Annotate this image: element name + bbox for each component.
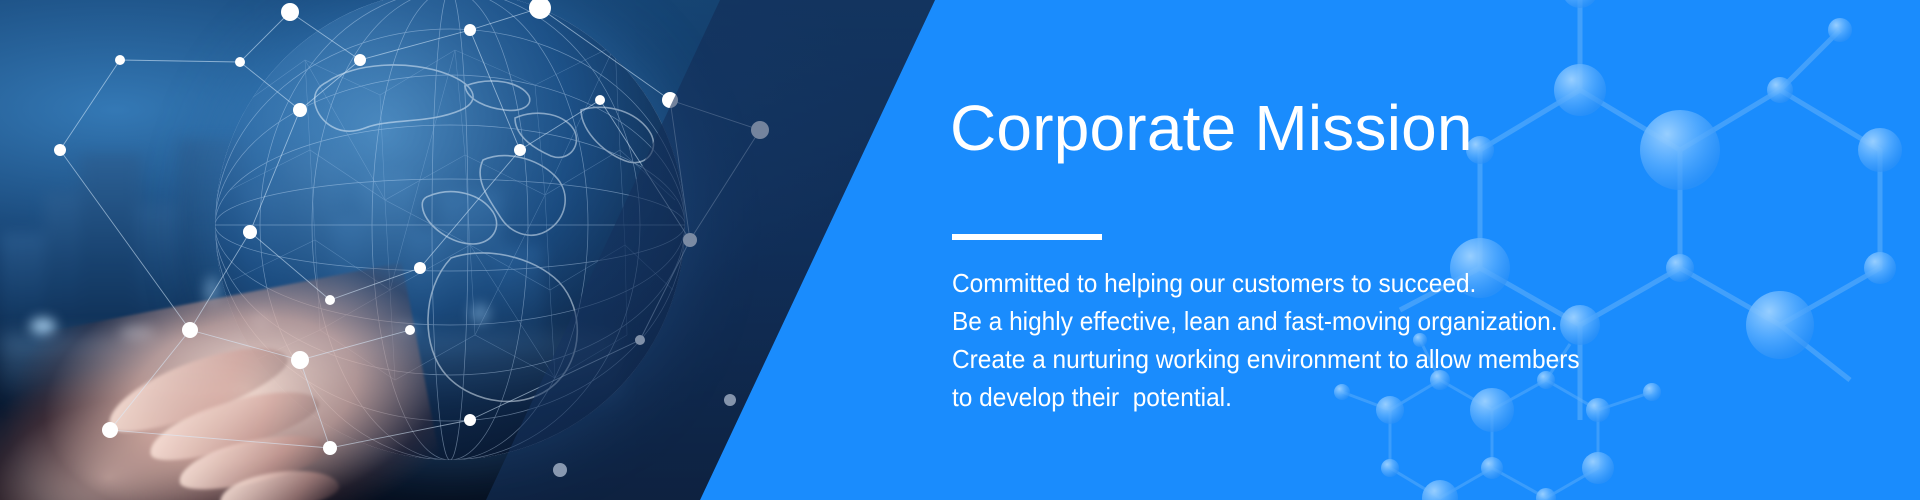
- page-title: Corporate Mission: [950, 95, 1473, 162]
- mission-content: Corporate Mission Committed to helping o…: [950, 0, 1850, 500]
- title-divider: [952, 234, 1102, 240]
- mission-statement-line: Be a highly effective, lean and fast-mov…: [952, 302, 1723, 340]
- mission-statement-line: to develop their potential.: [952, 378, 1723, 416]
- mission-statement-line: Create a nurturing working environment t…: [952, 340, 1723, 378]
- corporate-mission-banner: Corporate Mission Committed to helping o…: [0, 0, 1920, 500]
- mission-statement-list: Committed to helping our customers to su…: [952, 264, 1772, 416]
- mission-statement-line: Committed to helping our customers to su…: [952, 264, 1723, 302]
